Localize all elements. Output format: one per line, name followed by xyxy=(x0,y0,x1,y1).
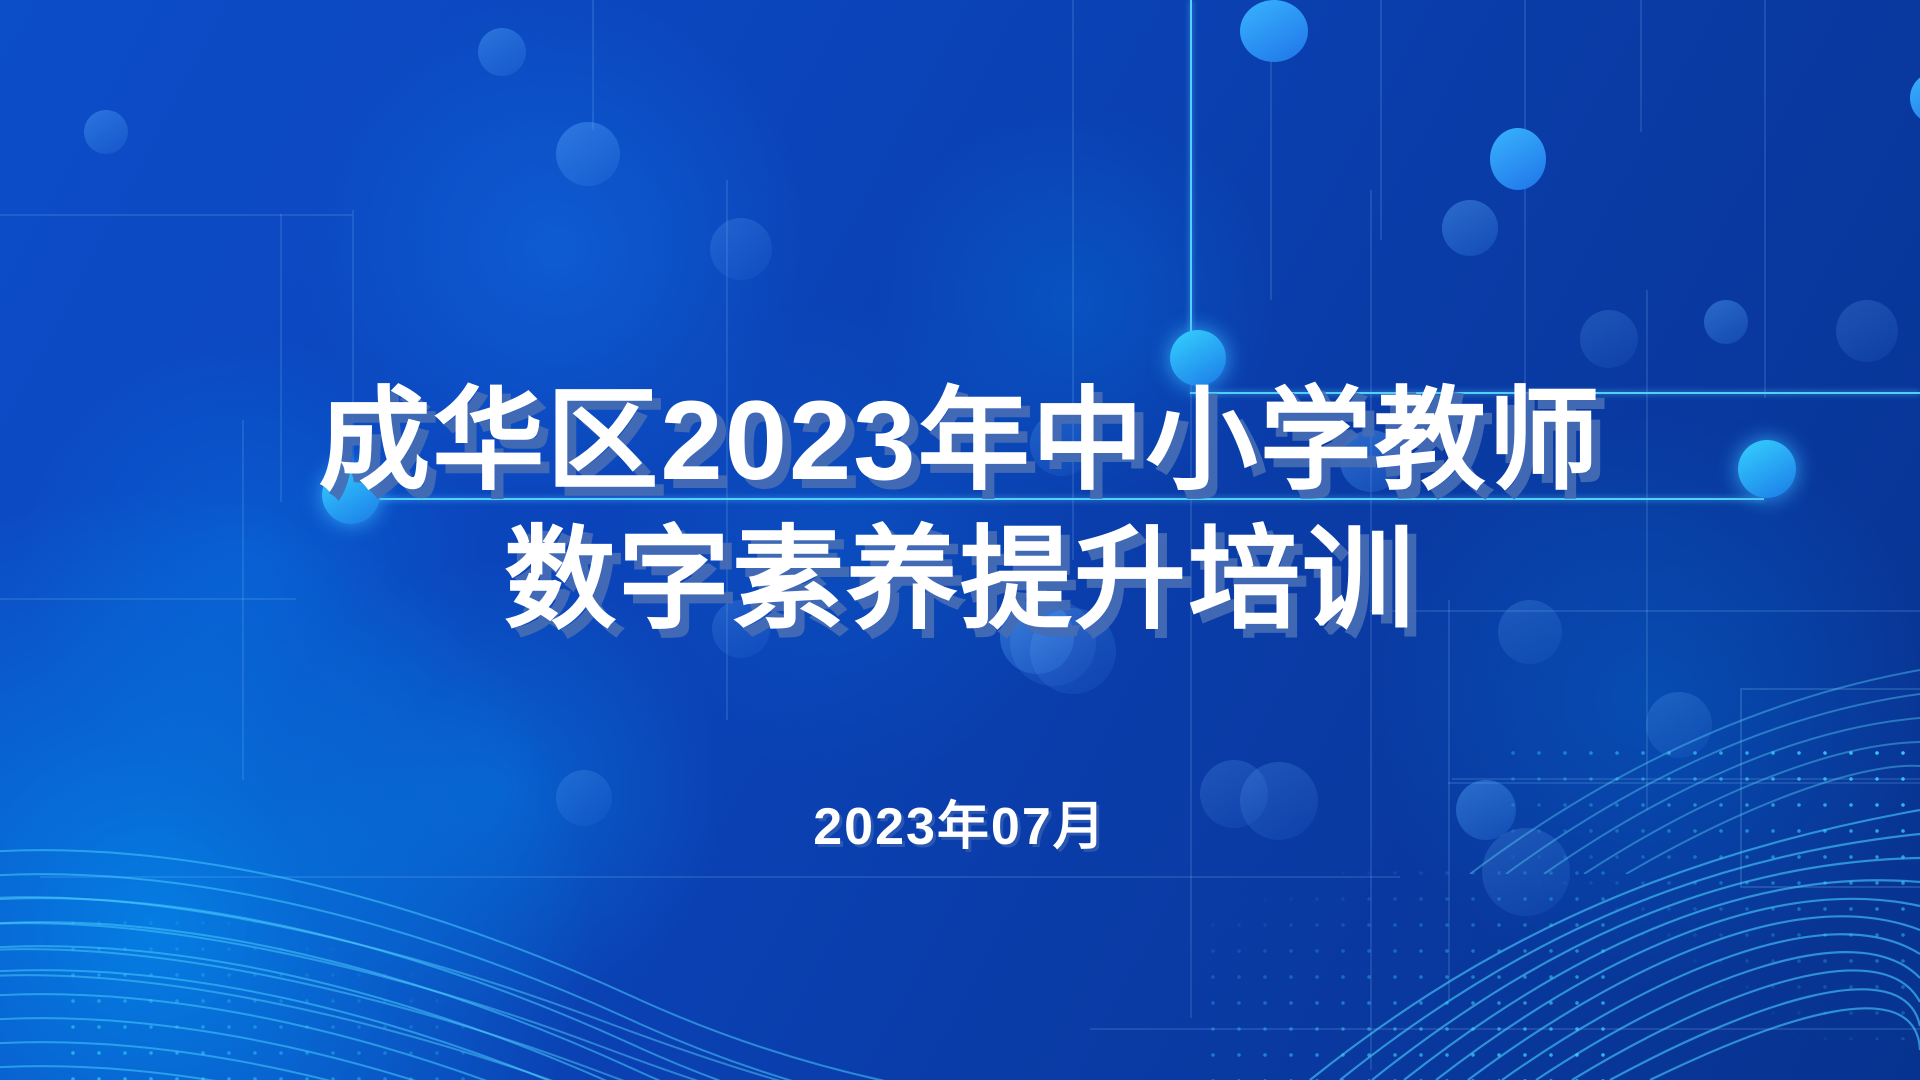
dot-matrix-decoration xyxy=(60,910,480,1080)
circuit-node xyxy=(1490,128,1546,190)
title-block: 成华区2023年中小学教师 数字素养提升培训 2023年07月 xyxy=(0,372,1920,859)
circuit-node xyxy=(1580,310,1638,368)
dot-matrix-decoration xyxy=(1200,860,1620,1080)
slide-title-line-2: 数字素养提升培训 xyxy=(0,511,1920,650)
circuit-node xyxy=(710,218,772,280)
circuit-node xyxy=(1240,0,1308,62)
circuit-node xyxy=(1836,300,1898,362)
circuit-line-horizontal xyxy=(40,876,1400,878)
circuit-node xyxy=(556,122,620,186)
circuit-node xyxy=(1704,300,1748,344)
circuit-line-vertical xyxy=(1190,0,1192,356)
slide-date: 2023年07月 xyxy=(0,784,1920,859)
circuit-line-horizontal xyxy=(0,214,352,216)
circuit-node xyxy=(1442,200,1498,256)
circuit-line-vertical xyxy=(1380,0,1382,240)
circuit-line-vertical xyxy=(592,0,594,130)
circuit-node xyxy=(1910,72,1920,124)
circuit-line-vertical xyxy=(1524,0,1526,418)
presentation-title-slide: 成华区2023年中小学教师 数字素养提升培训 2023年07月 xyxy=(0,0,1920,1080)
slide-title-line-1: 成华区2023年中小学教师 xyxy=(0,372,1920,511)
circuit-node xyxy=(478,28,526,76)
circuit-line-vertical xyxy=(1764,0,1766,398)
circuit-line-vertical xyxy=(1640,0,1642,132)
circuit-node xyxy=(84,110,128,154)
